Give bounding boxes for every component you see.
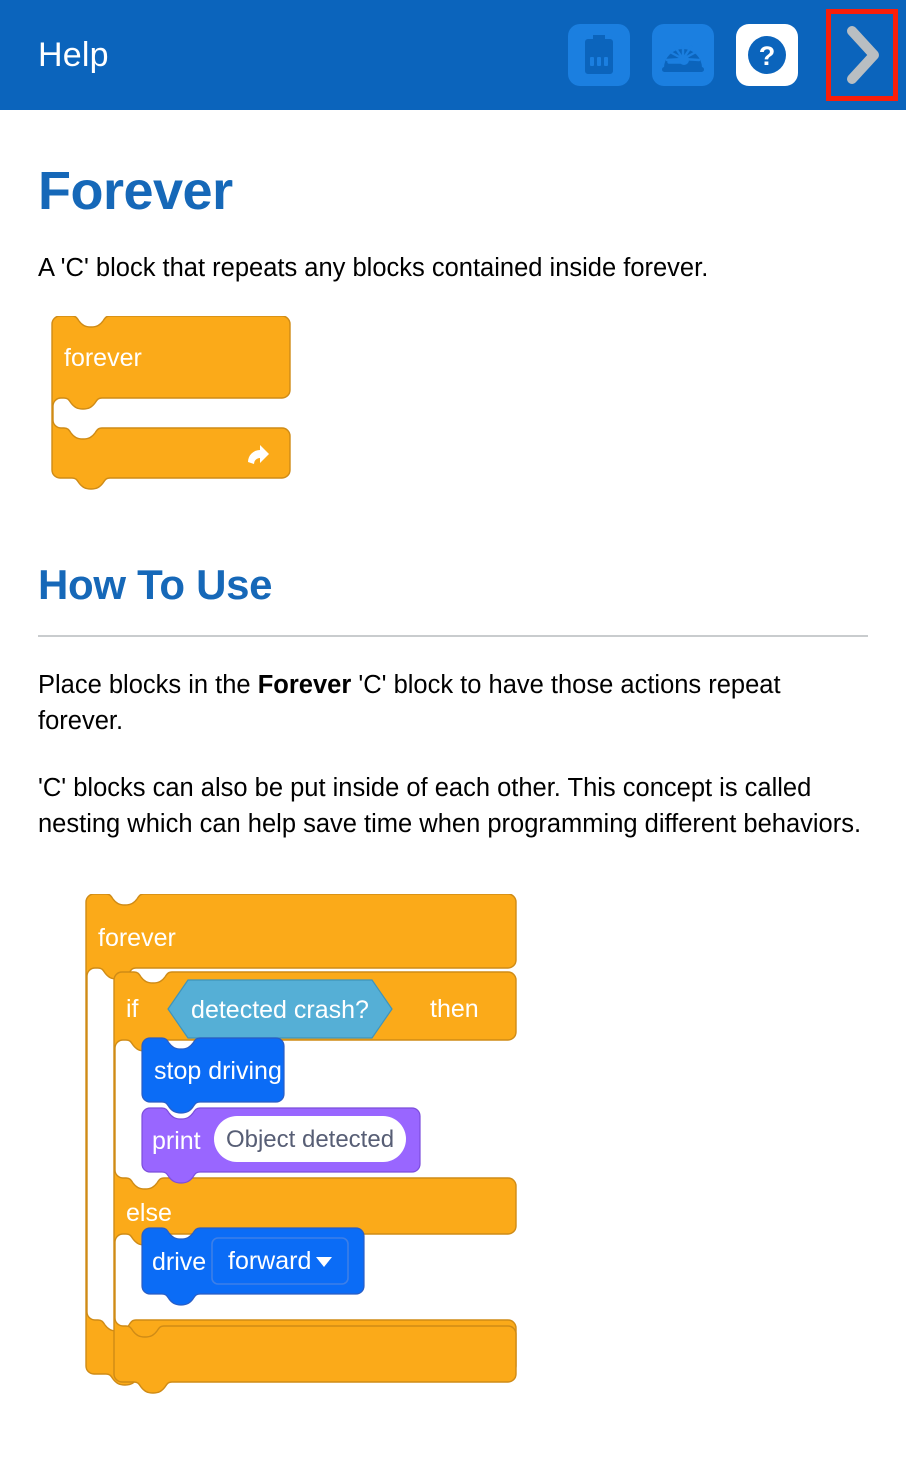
how-to-use-body: Place blocks in the Forever 'C' block to… [38, 667, 868, 842]
paragraph-1-bold: Forever [258, 671, 352, 699]
forever-block-figure: forever [46, 316, 868, 491]
help-button[interactable]: ? [736, 24, 798, 86]
how-to-use-heading: How To Use [38, 561, 868, 609]
drive-label: drive [152, 1248, 206, 1276]
drive-block[interactable]: drive forward [142, 1228, 364, 1305]
paragraph-2: 'C' blocks can also be put inside of eac… [38, 770, 868, 842]
drive-direction-value: forward [228, 1247, 311, 1275]
drive-direction-dropdown[interactable]: forward [212, 1238, 348, 1284]
dashboard-button[interactable] [652, 24, 714, 86]
outer-forever-label: forever [98, 924, 176, 952]
forever-label: forever [64, 344, 142, 372]
app-header: Help [0, 0, 906, 110]
stop-driving-label: stop driving [154, 1057, 282, 1085]
print-block[interactable]: print Object detected [142, 1108, 420, 1183]
print-input[interactable]: Object detected [214, 1116, 406, 1162]
nested-block-figure: forever if detected crash? then else [80, 894, 868, 1394]
article-description: A 'C' block that repeats any blocks cont… [38, 250, 868, 286]
dashboard-icon [662, 38, 704, 72]
paragraph-1: Place blocks in the Forever 'C' block to… [38, 667, 868, 739]
chevron-right-icon [842, 25, 882, 85]
print-label: print [152, 1127, 201, 1155]
condition-label: detected crash? [191, 996, 369, 1024]
section-divider [38, 635, 868, 637]
help-content: Forever A 'C' block that repeats any blo… [0, 160, 906, 1394]
battery-icon [581, 35, 617, 75]
page-title: Help [38, 36, 109, 75]
svg-text:?: ? [759, 41, 776, 71]
help-icon: ? [745, 33, 789, 77]
header-actions: ? [568, 0, 906, 110]
print-input-value: Object detected [226, 1126, 394, 1153]
forever-block-nested[interactable]: forever if detected crash? then else [80, 894, 550, 1394]
stop-driving-block[interactable]: stop driving [142, 1038, 284, 1113]
next-button[interactable] [826, 9, 898, 101]
battery-button[interactable] [568, 24, 630, 86]
paragraph-1-pre: Place blocks in the [38, 671, 258, 699]
forever-block-simple[interactable]: forever [46, 316, 306, 491]
else-label: else [126, 1199, 172, 1227]
then-label: then [430, 995, 479, 1023]
article-title: Forever [38, 160, 868, 222]
condition-boolean[interactable]: detected crash? [168, 980, 392, 1038]
if-label: if [126, 995, 139, 1023]
